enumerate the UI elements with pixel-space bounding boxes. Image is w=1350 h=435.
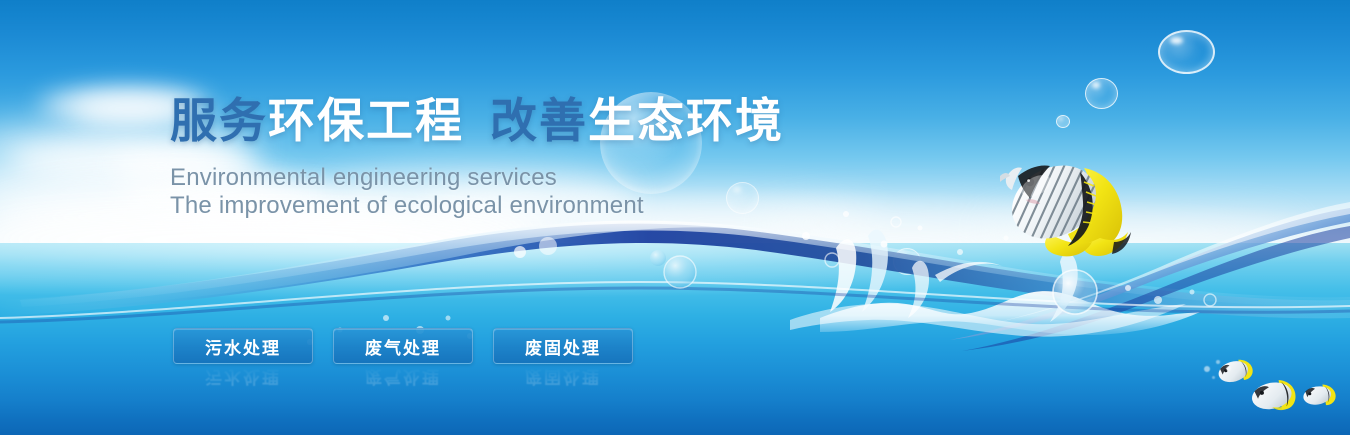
button-sewage-treatment[interactable]: 污水处理 — [173, 328, 313, 364]
button-sewage-treatment-label: 污水处理 — [205, 334, 281, 359]
hero-banner: 服务环保工程改善生态环境 Environmental engineering s… — [0, 0, 1350, 435]
reflection-label: 废固处理 — [525, 366, 601, 391]
button-solid-waste-treatment-reflection: 废固处理 — [493, 366, 633, 392]
reflection-label: 污水处理 — [205, 366, 281, 391]
button-waste-gas-treatment-label: 废气处理 — [365, 334, 441, 359]
small-fish-b — [1249, 377, 1298, 416]
reflection-label: 废气处理 — [365, 366, 441, 391]
button-waste-gas-treatment[interactable]: 废气处理 — [333, 328, 473, 364]
button-solid-waste-treatment[interactable]: 废固处理 — [493, 328, 633, 364]
button-waste-gas-treatment-reflection: 废气处理 — [333, 366, 473, 392]
button-sewage-treatment-reflection: 污水处理 — [173, 366, 313, 392]
small-fish-c — [1302, 383, 1337, 409]
service-button-row: 污水处理 污水处理 废气处理 废气处理 废固处理 废固处理 — [0, 0, 1350, 435]
small-fish-a — [1216, 358, 1255, 386]
button-solid-waste-treatment-label: 废固处理 — [525, 334, 601, 359]
small-fish-group — [1198, 358, 1343, 430]
butterflyfish-icon — [988, 142, 1138, 272]
